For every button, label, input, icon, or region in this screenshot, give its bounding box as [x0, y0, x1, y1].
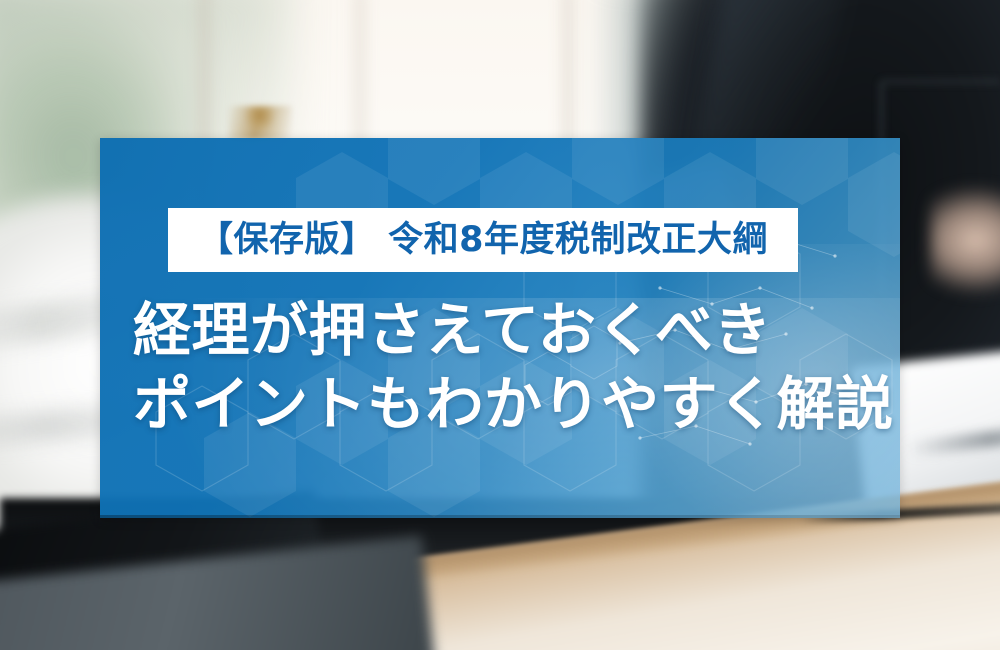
headline-line-1: 経理が押さえておくべき — [133, 296, 893, 366]
gold-ornament — [228, 106, 292, 140]
panel-content: 【保存版】 令和8年度税制改正大綱 経理が押さえておくべき ポイントもわかりやす… — [100, 138, 900, 518]
blue-overlay-panel: 【保存版】 令和8年度税制改正大綱 経理が押さえておくべき ポイントもわかりやす… — [100, 138, 900, 518]
headline-line-2: ポイントもわかりやすく解説 — [133, 370, 893, 440]
kicker-badge: 【保存版】 令和8年度税制改正大綱 — [168, 208, 798, 272]
kicker-badge-label: 【保存版】 令和8年度税制改正大綱 — [198, 223, 768, 258]
hand — [930, 185, 1000, 305]
article-thumbnail-banner: 【保存版】 令和8年度税制改正大綱 経理が押さえておくべき ポイントもわかりやす… — [0, 0, 1000, 650]
headline: 経理が押さえておくべき ポイントもわかりやすく解説 — [133, 296, 893, 439]
